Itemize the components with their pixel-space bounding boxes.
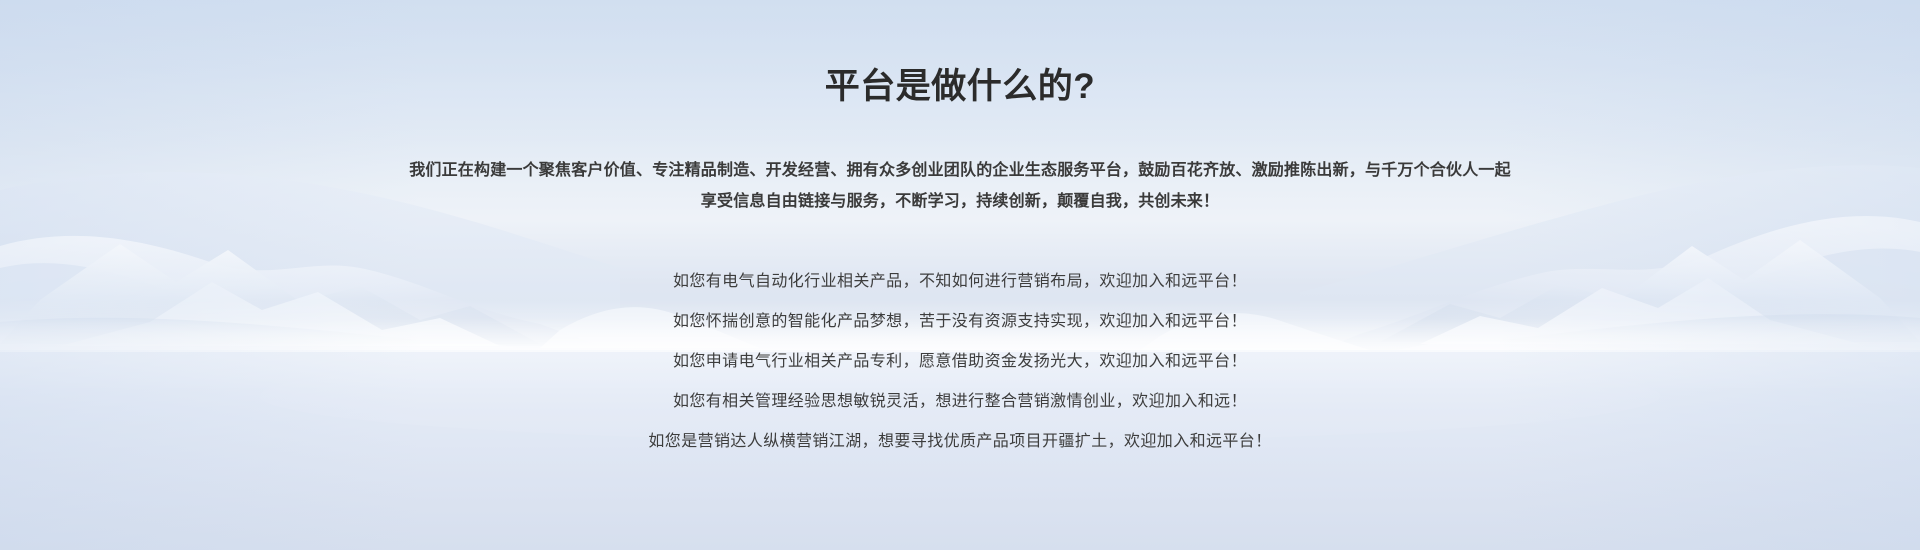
benefit-item: 如您申请电气行业相关产品专利，愿意借助资金发扬光大，欢迎加入和远平台！ — [360, 342, 1560, 382]
intro-line: 享受信息自由链接与服务，不断学习，持续创新，颠覆自我，共创未来！ — [390, 186, 1530, 217]
page-title: 平台是做什么的? — [0, 64, 1920, 110]
benefit-list: 如您有电气自动化行业相关产品，不知如何进行营销布局，欢迎加入和远平台！ 如您怀揣… — [360, 262, 1560, 462]
intro-line: 我们正在构建一个聚焦客户价值、专注精品制造、开发经营、拥有众多创业团队的企业生态… — [390, 155, 1530, 186]
hero-content: 平台是做什么的? 我们正在构建一个聚焦客户价值、专注精品制造、开发经营、拥有众多… — [0, 0, 1920, 550]
benefit-item: 如您是营销达人纵横营销江湖，想要寻找优质产品项目开疆扩土，欢迎加入和远平台！ — [360, 422, 1560, 462]
benefit-item: 如您有电气自动化行业相关产品，不知如何进行营销布局，欢迎加入和远平台！ — [360, 262, 1560, 302]
benefit-item: 如您怀揣创意的智能化产品梦想，苦于没有资源支持实现，欢迎加入和远平台！ — [360, 302, 1560, 342]
benefit-item: 如您有相关管理经验思想敏锐灵活，想进行整合营销激情创业，欢迎加入和远！ — [360, 382, 1560, 422]
intro-paragraph: 我们正在构建一个聚焦客户价值、专注精品制造、开发经营、拥有众多创业团队的企业生态… — [390, 155, 1530, 217]
hero-banner: 平台是做什么的? 我们正在构建一个聚焦客户价值、专注精品制造、开发经营、拥有众多… — [0, 0, 1920, 550]
